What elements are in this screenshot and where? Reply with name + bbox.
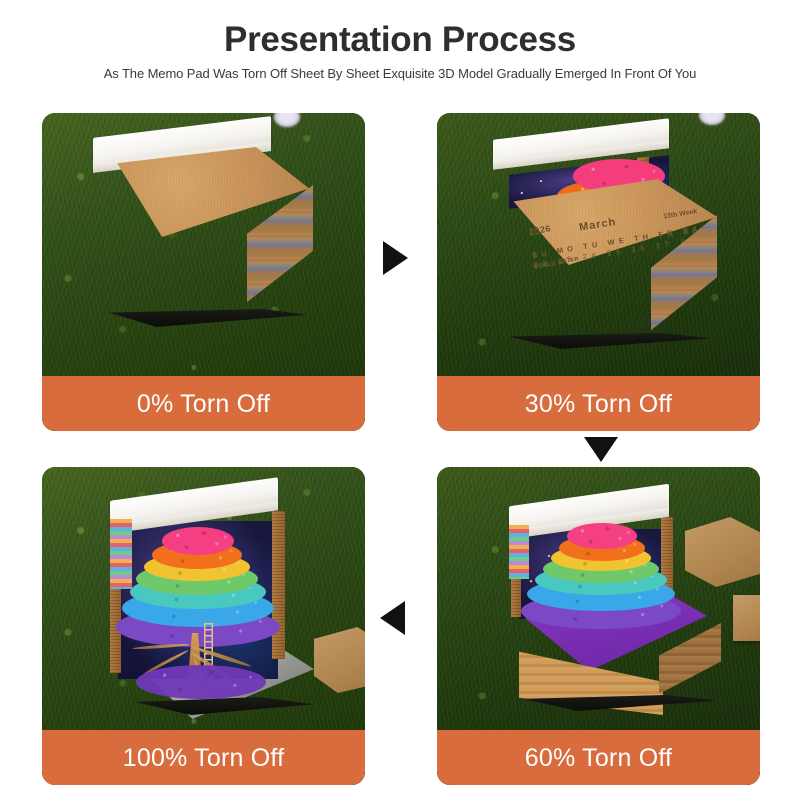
memo-pad-cube bbox=[87, 125, 317, 375]
flow-arrow-left-icon bbox=[380, 601, 405, 635]
panel-caption-bar: 30% Torn Off bbox=[437, 376, 760, 431]
memo-stack-side bbox=[659, 623, 721, 697]
process-step-panel[interactable]: 60% Torn Off bbox=[437, 467, 760, 785]
page-title-text: Presentation Process bbox=[224, 20, 576, 59]
flow-arrow-right-icon bbox=[383, 241, 408, 275]
flow-arrow-down-icon bbox=[584, 437, 618, 462]
ground-foliage-purple bbox=[136, 665, 266, 699]
panel-caption-text: 60% Torn Off bbox=[525, 745, 672, 771]
canopy-band-pink bbox=[567, 523, 637, 549]
process-step-panel[interactable]: 100% Torn Off bbox=[42, 467, 365, 785]
cardboard-box-prop bbox=[733, 595, 760, 641]
memo-pad-model bbox=[84, 483, 334, 733]
panel-caption-text: 0% Torn Off bbox=[137, 391, 270, 417]
tree-canopy bbox=[114, 527, 284, 657]
canopy-band-pink bbox=[162, 527, 234, 555]
panel-caption-text: 100% Torn Off bbox=[123, 745, 285, 771]
page-title-wrapper: Presentation Process bbox=[0, 21, 800, 59]
process-panel-grid: 0% Torn Off 2026 March 13th Week SU MO T… bbox=[42, 113, 760, 785]
model-base-shadow bbox=[128, 697, 314, 715]
panel-caption-bar: 100% Torn Off bbox=[42, 730, 365, 785]
page-title: Presentation Process bbox=[218, 21, 582, 59]
page-subtitle: As The Memo Pad Was Torn Off Sheet By Sh… bbox=[0, 66, 800, 81]
process-step-panel[interactable]: 0% Torn Off bbox=[42, 113, 365, 431]
panel-caption-bar: 0% Torn Off bbox=[42, 376, 365, 431]
panel-caption-text: 30% Torn Off bbox=[525, 391, 672, 417]
memo-pad-cube: 2026 March 13th Week SU MO TU WE TH FR S… bbox=[487, 127, 727, 377]
panel-caption-bar: 60% Torn Off bbox=[437, 730, 760, 785]
process-step-panel[interactable]: 2026 March 13th Week SU MO TU WE TH FR S… bbox=[437, 113, 760, 431]
memo-pad-cube bbox=[475, 483, 735, 733]
tree-canopy bbox=[521, 523, 691, 631]
page-header: Presentation Process As The Memo Pad Was… bbox=[0, 0, 800, 104]
